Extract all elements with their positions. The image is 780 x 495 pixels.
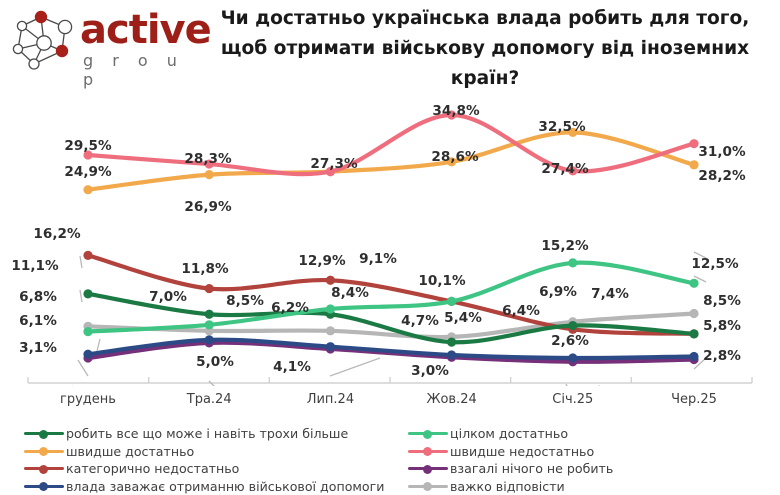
data-label: 7,4% [591,286,629,302]
data-label: 31,0% [698,144,746,160]
page-title: Чи достатньо українська влада робить для… [196,4,774,94]
line-chart-plot: 29,5%28,3%27,3%34,8%32,5%31,0%24,9%26,9%… [0,86,780,386]
data-label: 27,3% [310,156,358,172]
data-point[interactable] [83,289,92,298]
data-label: 5,4% [444,310,482,326]
data-point[interactable] [83,251,92,260]
legend-label: взагалі нічого не робить [450,461,613,476]
legend-item[interactable]: швидше достатньо [24,443,194,460]
data-label: 15,2% [541,238,589,254]
x-axis: груденьТра.24Лип.24Жов.24Січ.25Чер.25 [0,386,780,418]
data-point[interactable] [447,338,456,347]
data-label: 27,4% [541,161,589,177]
x-axis-tick-label: Лип.24 [275,392,385,407]
data-label: 6,2% [271,300,309,316]
brand-logo: active g r o u p [8,4,190,78]
legend-marker-icon [408,428,448,439]
data-point[interactable] [205,170,214,179]
legend-label: робить все що може і навіть трохи більше [66,426,348,441]
data-label: 8,5% [703,293,741,309]
legend-item[interactable]: важко відповісти [408,478,565,495]
data-label: 24,9% [64,164,112,180]
legend-item[interactable]: цілком достатньо [408,425,568,442]
data-point[interactable] [205,320,214,329]
data-label: 28,6% [431,149,479,165]
data-point[interactable] [83,185,92,194]
logo-wordmark: active [80,10,211,50]
data-label: 12,5% [691,256,739,272]
data-point[interactable] [326,326,335,335]
data-point[interactable] [447,350,456,359]
legend-item[interactable]: робить все що може і навіть трохи більше [24,425,348,442]
legend-item[interactable]: влада заважає отриманню військової допом… [24,478,384,495]
legend-marker-icon [24,481,64,492]
data-label: 12,9% [298,253,346,269]
data-label: 26,9% [184,199,232,215]
data-point[interactable] [447,297,456,306]
logo-subtext: g r o u p [83,51,190,89]
data-point[interactable] [205,310,214,319]
legend-marker-icon [408,481,448,492]
data-label: 8,5% [226,293,264,309]
x-axis-tick-label: Тра.24 [154,392,264,407]
network-nodes-icon [10,8,80,74]
data-label: 10,1% [418,273,466,289]
series-влада заважає отриманню військової допомоги[interactable] [83,335,698,362]
chart-canvas: 29,5%28,3%27,3%34,8%32,5%31,0%24,9%26,9%… [0,86,780,386]
data-label: 34,8% [432,103,480,119]
data-label: 2,6% [551,333,589,349]
x-axis-tick-label: Січ.25 [518,392,628,407]
data-label: 29,5% [64,138,112,154]
data-label: 3,0% [411,363,449,379]
data-label: 11,1% [11,258,59,274]
data-label: 6,8% [19,289,57,305]
data-label: 5,8% [703,318,741,334]
legend-item[interactable]: швидше недостатньо [408,443,594,460]
data-label: 6,4% [502,303,540,319]
legend-label: важко відповісти [450,479,565,494]
data-point[interactable] [205,284,214,293]
data-label: 32,5% [538,119,586,135]
data-label: 16,2% [33,226,81,242]
legend-item[interactable]: категорично недостатньо [24,460,239,477]
legend-marker-icon [24,428,64,439]
legend-label: цілком достатньо [450,426,568,441]
legend-item[interactable]: взагалі нічого не робить [408,460,613,477]
data-point[interactable] [83,350,92,359]
data-point[interactable] [689,352,698,361]
data-point[interactable] [689,309,698,318]
axis-line [28,377,752,383]
data-label: 4,7% [401,313,439,329]
data-point[interactable] [568,353,577,362]
legend-marker-icon [408,463,448,474]
x-axis-tick-label: Жов.24 [397,392,507,407]
data-label: 5,0% [196,354,234,370]
data-point[interactable] [689,279,698,288]
data-point[interactable] [326,342,335,351]
legend-label: влада заважає отриманню військової допом… [66,479,384,494]
legend-marker-icon [408,446,448,457]
data-point[interactable] [568,258,577,267]
data-label: 6,1% [19,313,57,329]
data-label: 4,1% [273,359,311,375]
data-point[interactable] [689,139,698,148]
data-label: 28,2% [698,168,746,184]
data-label: 3,1% [19,340,57,356]
data-point[interactable] [568,321,577,330]
data-point[interactable] [689,160,698,169]
legend-marker-icon [24,463,64,474]
data-label: 8,4% [331,285,369,301]
data-label: 9,1% [359,251,397,267]
data-point[interactable] [689,329,698,338]
legend-label: категорично недостатньо [66,461,239,476]
data-point[interactable] [83,327,92,336]
data-label: 11,8% [181,261,229,277]
chart-header: active g r o u p Чи достатньо українська… [0,0,780,86]
data-point[interactable] [205,335,214,344]
x-axis-tick-label: Чер.25 [639,392,749,407]
data-point[interactable] [326,276,335,285]
data-label: 6,9% [539,284,577,300]
legend-label: швидше достатньо [66,444,194,459]
data-label: 28,3% [184,151,232,167]
data-label: 7,0% [149,289,187,305]
data-point[interactable] [326,304,335,313]
legend-marker-icon [24,446,64,457]
chart-legend: робить все що може і навіть трохи більше… [0,420,780,491]
data-label: 2,8% [703,348,741,364]
legend-label: швидше недостатньо [450,444,594,459]
x-axis-tick-label: грудень [33,392,143,407]
